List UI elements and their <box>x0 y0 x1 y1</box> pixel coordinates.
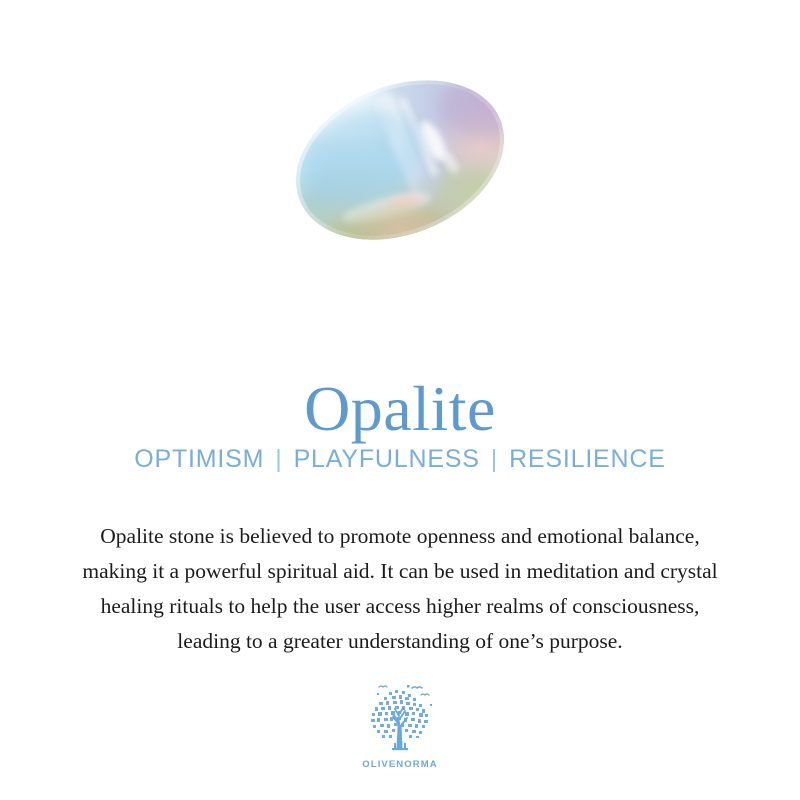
opalite-cabochon-image <box>255 45 545 275</box>
page-title: Opalite <box>0 377 800 441</box>
brand-name: OLIVENORMA <box>0 759 800 770</box>
opalite-info-card: Opalite OPTIMISM|PLAYFULNESS|RESILIENCE … <box>0 0 800 800</box>
keyword-resilience: RESILIENCE <box>509 445 666 473</box>
keyword-optimism: OPTIMISM <box>134 445 264 473</box>
description-line: leading to a greater understanding of on… <box>20 624 780 659</box>
description-paragraph: Opalite stone is believed to promote ope… <box>20 519 780 659</box>
stone-figure <box>0 0 800 310</box>
keyword-list: OPTIMISM|PLAYFULNESS|RESILIENCE <box>0 444 800 475</box>
brand-logo: OLIVENORMA <box>0 680 800 770</box>
tree-icon <box>359 680 441 758</box>
keyword-playfulness: PLAYFULNESS <box>294 445 480 473</box>
keyword-separator: | <box>480 445 509 473</box>
description-line: making it a powerful spiritual aid. It c… <box>20 554 780 589</box>
description-line: healing rituals to help the user access … <box>20 589 780 624</box>
description-line: Opalite stone is believed to promote ope… <box>20 519 780 554</box>
keyword-separator: | <box>264 445 293 473</box>
